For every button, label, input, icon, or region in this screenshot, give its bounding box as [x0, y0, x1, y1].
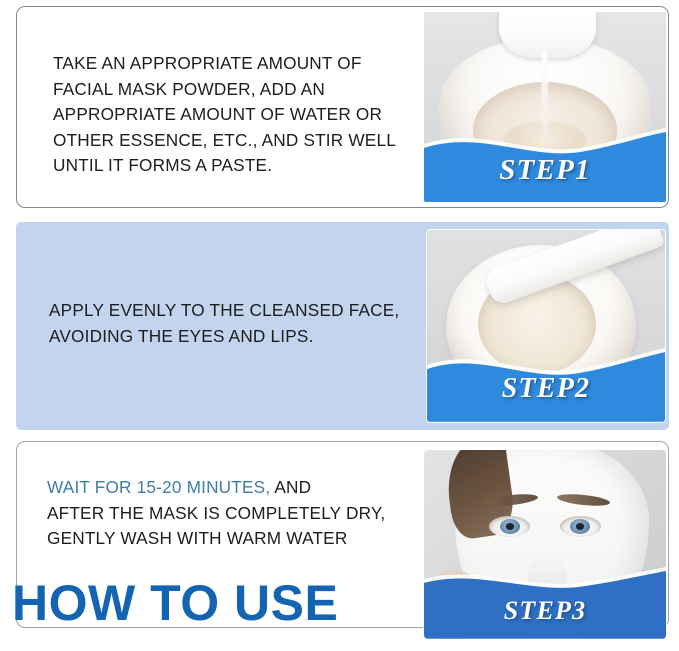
step-3-photo: STEP3 [424, 450, 666, 639]
eye-right [560, 516, 601, 537]
eye-left [489, 516, 530, 537]
iris-left [500, 519, 520, 534]
step-3-instruction-highlight: WAIT FOR 15-20 MINUTES, [47, 477, 270, 497]
iris-right [570, 519, 590, 534]
step-2-badge: STEP2 [427, 373, 665, 405]
how-to-use-infographic: TAKE AN APPROPRIATE AMOUNT OF FACIAL MAS… [0, 0, 679, 651]
step-2-instruction: APPLY EVENLY TO THE CLEANSED FACE, AVOID… [49, 298, 419, 349]
step-2-photo: STEP2 [427, 230, 665, 422]
step-3-instruction: WAIT FOR 15-20 MINUTES, AND AFTER THE MA… [47, 475, 432, 552]
step-3-badge: STEP3 [424, 596, 666, 626]
step-1-instruction: TAKE AN APPROPRIATE AMOUNT OF FACIAL MAS… [53, 51, 413, 179]
pitcher-icon [499, 12, 596, 58]
step-1-photo: STEP1 [424, 12, 666, 202]
step-1-badge: STEP1 [424, 154, 666, 187]
page-title: HOW TO USE [12, 578, 338, 628]
